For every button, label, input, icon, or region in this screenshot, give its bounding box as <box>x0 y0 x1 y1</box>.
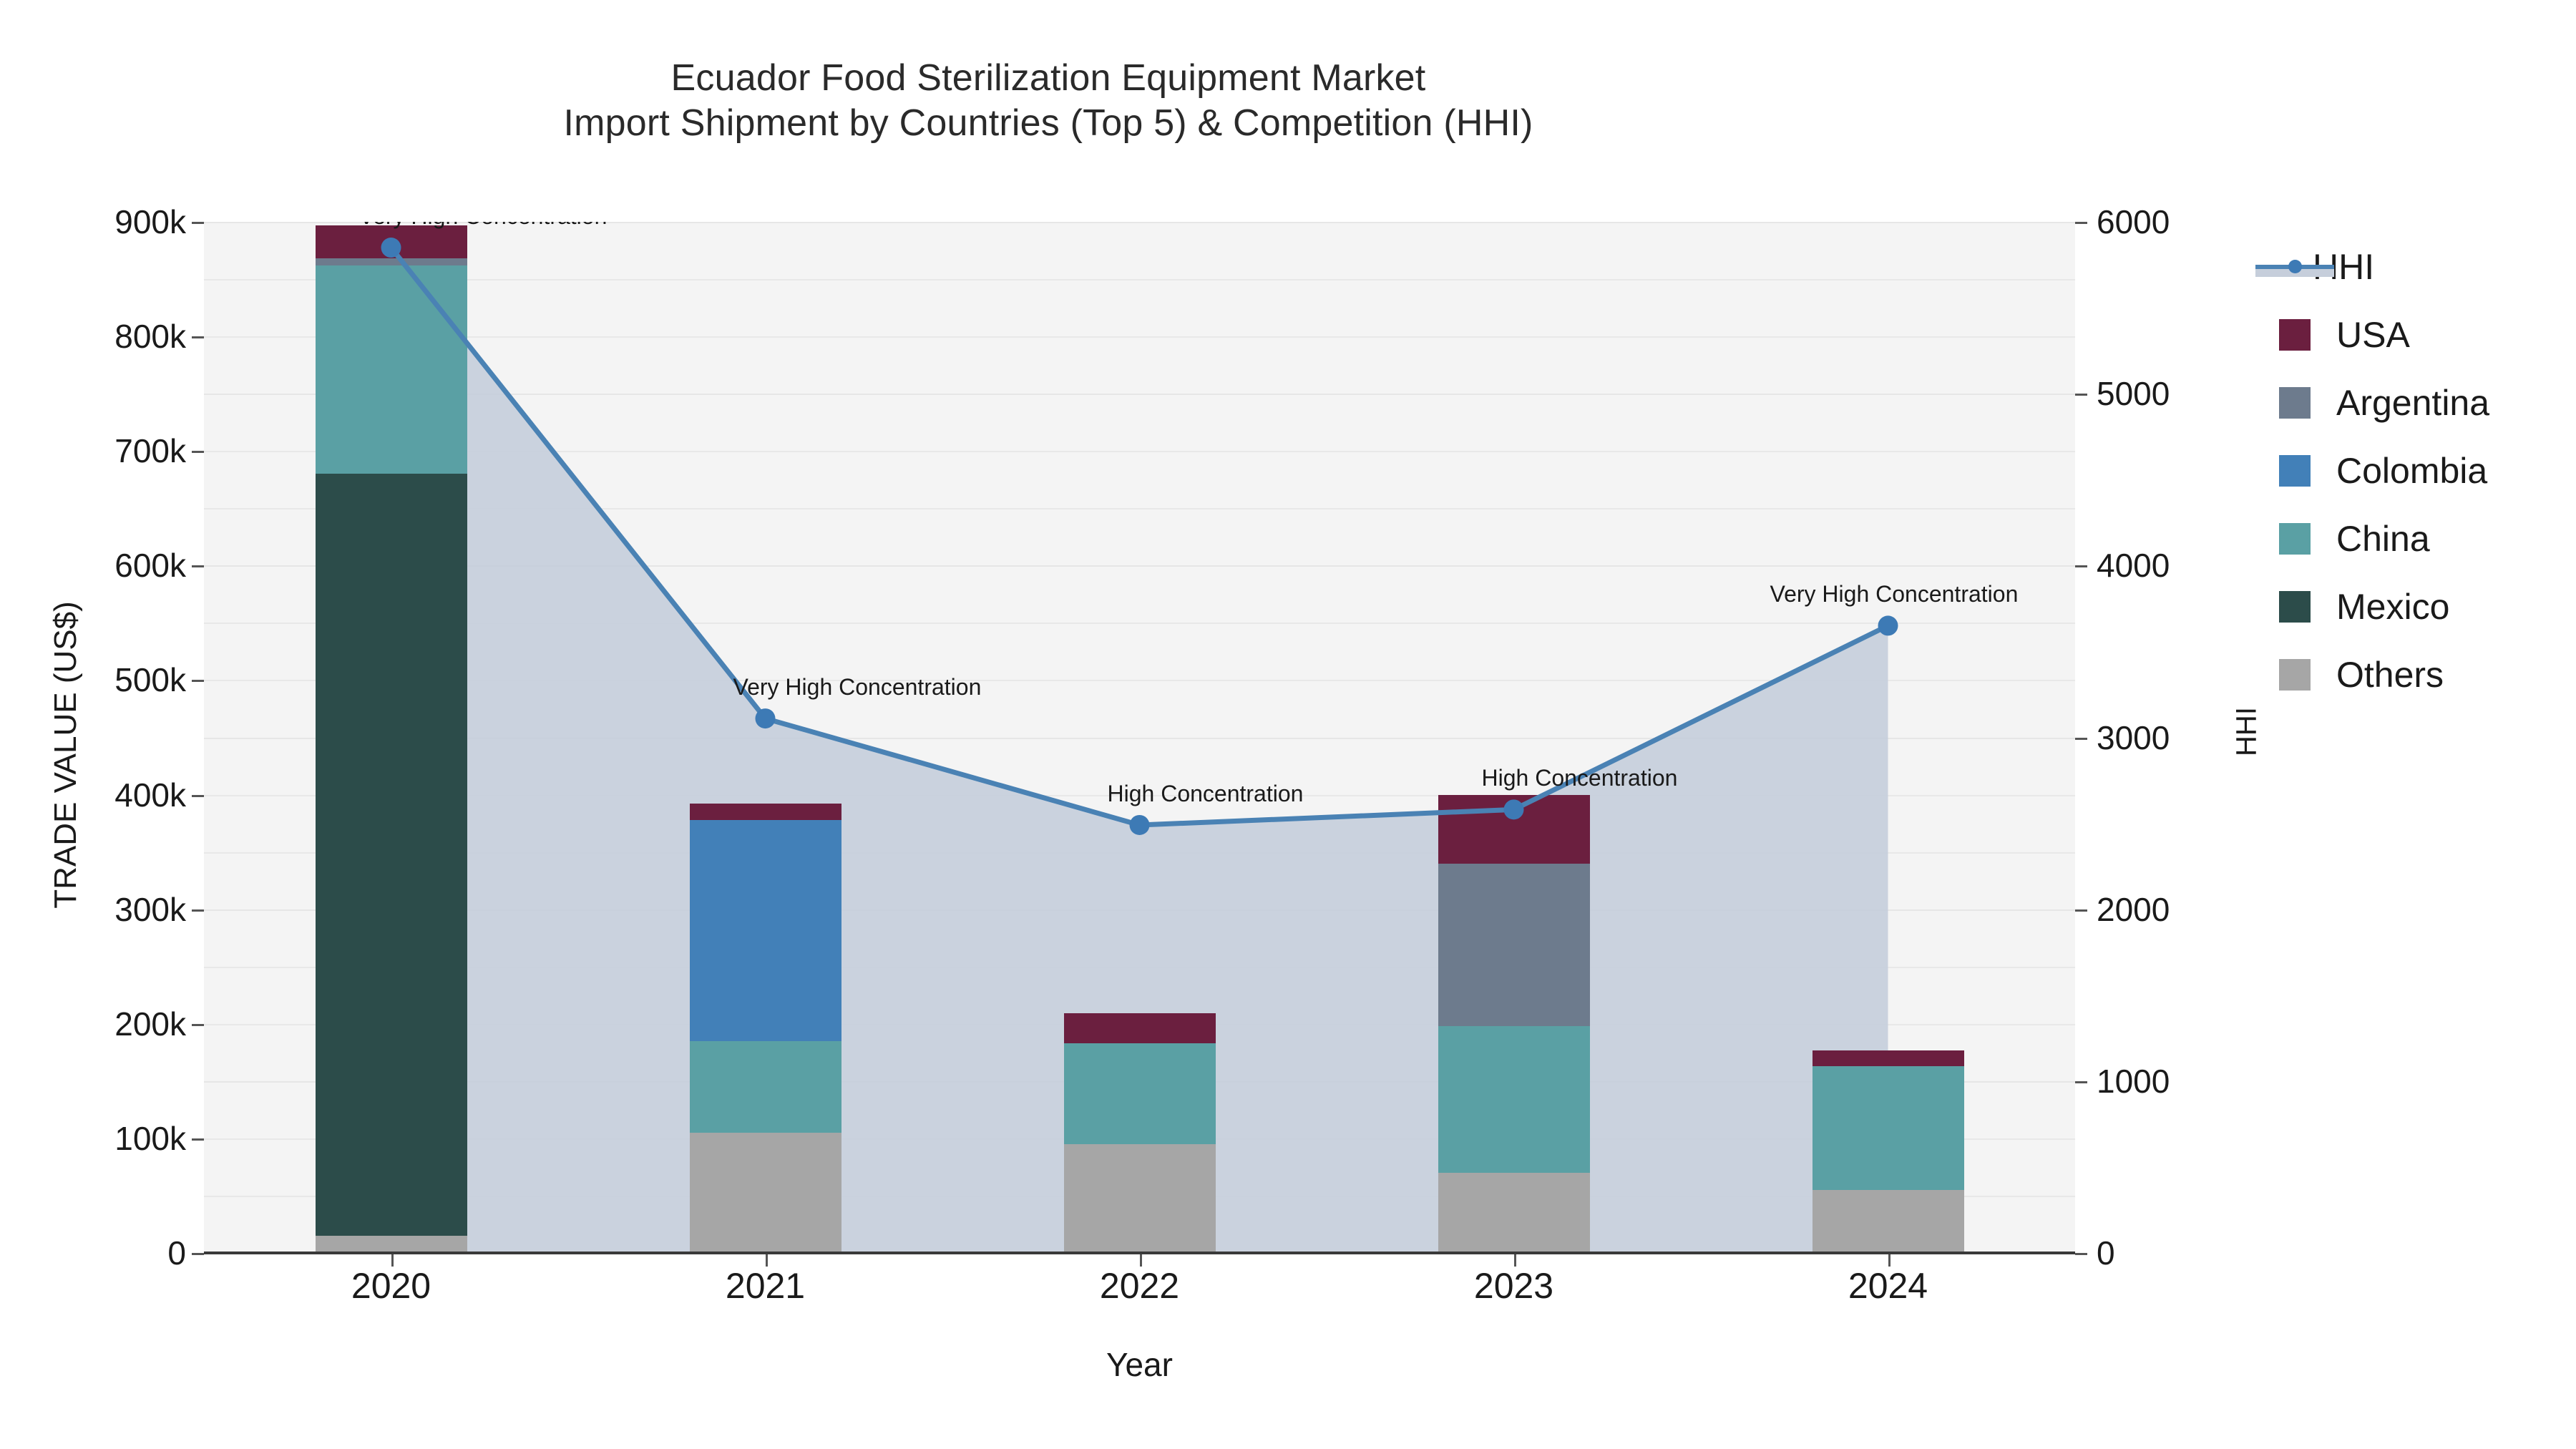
x-axis-tickmark <box>1140 1254 1142 1267</box>
legend-label: China <box>2336 518 2430 560</box>
chart-figure: Ecuador Food Sterilization Equipment Mar… <box>0 0 2576 1449</box>
plot-area: Very High ConcentrationVery High Concent… <box>204 222 2075 1253</box>
bar-segment-usa[interactable] <box>690 804 841 819</box>
bar-segment-others[interactable] <box>316 1236 467 1253</box>
hhi-annotation-label: High Concentration <box>1482 765 1678 791</box>
bar-segment-others[interactable] <box>1064 1144 1216 1253</box>
legend-item-others[interactable]: Others <box>2279 640 2565 708</box>
legend-item-colombia[interactable]: Colombia <box>2279 436 2565 504</box>
bar-segment-usa[interactable] <box>1813 1050 1964 1066</box>
y-axis-right-tickmark <box>2075 1253 2087 1255</box>
bar-segment-others[interactable] <box>1438 1173 1590 1253</box>
x-axis-tickmark <box>1888 1254 1890 1267</box>
x-axis-tick-label-2024: 2024 <box>1848 1265 1928 1307</box>
y-axis-right-tick-label: 4000 <box>2097 546 2240 585</box>
hhi-annotation-label: High Concentration <box>1108 781 1304 807</box>
y-axis-left-tick-label: 200k <box>50 1005 186 1043</box>
y-axis-left-tick-label: 700k <box>50 431 186 470</box>
y-axis-left-label: TRADE VALUE (US$) <box>48 504 84 1005</box>
y-axis-right-tick-label: 0 <box>2097 1234 2240 1272</box>
legend-label: Argentina <box>2336 382 2489 424</box>
y-axis-left-tickmark <box>192 222 204 224</box>
y-axis-left-tickmark <box>192 909 204 912</box>
legend-swatch-icon <box>2279 523 2311 555</box>
bar-group[interactable] <box>316 222 467 1253</box>
legend-item-china[interactable]: China <box>2279 504 2565 572</box>
chart-title: Ecuador Food Sterilization Equipment Mar… <box>0 56 2097 147</box>
x-axis-label: Year <box>204 1345 2075 1384</box>
bar-segment-mexico[interactable] <box>316 474 467 1236</box>
bar-segment-argentina[interactable] <box>1438 864 1590 1026</box>
y-axis-left-tickmark <box>192 1138 204 1141</box>
legend-swatch-icon <box>2279 455 2311 487</box>
y-axis-right-tick-label: 5000 <box>2097 374 2240 413</box>
x-axis-tickmark <box>391 1254 394 1267</box>
bar-segment-china[interactable] <box>316 265 467 474</box>
y-axis-right-tick-label: 2000 <box>2097 890 2240 929</box>
hhi-annotation-label: Very High Concentration <box>733 674 982 701</box>
chart-title-line-2: Import Shipment by Countries (Top 5) & C… <box>0 101 2097 146</box>
legend-item-usa[interactable]: USA <box>2279 301 2565 369</box>
bar-segment-argentina[interactable] <box>316 258 467 265</box>
y-axis-right-tickmark <box>2075 738 2087 740</box>
legend-swatch-icon <box>2279 387 2311 419</box>
bar-segment-usa[interactable] <box>316 225 467 258</box>
y-axis-left-tickmark <box>192 680 204 682</box>
bar-segment-china[interactable] <box>1438 1026 1590 1173</box>
y-axis-right-label: HHI <box>2231 660 2263 804</box>
y-axis-left-tickmark <box>192 795 204 797</box>
y-axis-left-tick-label: 100k <box>50 1119 186 1158</box>
bar-segment-others[interactable] <box>1813 1190 1964 1253</box>
x-axis-tick-label-2022: 2022 <box>1100 1265 1179 1307</box>
hhi-annotation-label: Very High Concentration <box>1770 581 2019 608</box>
y-axis-right-tickmark <box>2075 565 2087 567</box>
bar-segment-china[interactable] <box>690 1041 841 1133</box>
y-axis-left-tickmark <box>192 451 204 453</box>
y-axis-left-tick-label: 900k <box>50 203 186 241</box>
y-axis-right-tickmark <box>2075 222 2087 224</box>
legend-swatch-icon <box>2279 659 2311 691</box>
x-axis-tickmark <box>1514 1254 1516 1267</box>
bar-segment-usa[interactable] <box>1064 1013 1216 1043</box>
bar-segment-colombia[interactable] <box>690 820 841 1041</box>
bar-segment-others[interactable] <box>690 1133 841 1253</box>
legend-label: USA <box>2336 314 2410 356</box>
bar-group[interactable] <box>1438 222 1590 1253</box>
y-axis-right-tick-label: 6000 <box>2097 203 2240 241</box>
y-axis-left-tick-label: 0 <box>50 1234 186 1272</box>
y-axis-right-tick-label: 1000 <box>2097 1062 2240 1101</box>
bar-group[interactable] <box>690 222 841 1253</box>
legend-item-argentina[interactable]: Argentina <box>2279 369 2565 436</box>
chart-legend: HHIUSAArgentinaColombiaChinaMexicoOthers <box>2279 233 2565 708</box>
bar-group[interactable] <box>1813 222 1964 1253</box>
x-axis-tick-label-2021: 2021 <box>726 1265 805 1307</box>
legend-item-mexico[interactable]: Mexico <box>2279 572 2565 640</box>
legend-label: Colombia <box>2336 450 2487 492</box>
legend-line-icon <box>2255 251 2334 283</box>
legend-label: Mexico <box>2336 586 2449 628</box>
bar-segment-china[interactable] <box>1813 1066 1964 1190</box>
bar-segment-usa[interactable] <box>1438 795 1590 864</box>
x-axis-tick-label-2020: 2020 <box>351 1265 431 1307</box>
y-axis-right-tickmark <box>2075 909 2087 912</box>
y-axis-left-tickmark <box>192 336 204 338</box>
bar-group[interactable] <box>1064 222 1216 1253</box>
legend-swatch-icon <box>2279 319 2311 351</box>
y-axis-right-tick-label: 3000 <box>2097 718 2240 757</box>
y-axis-left-tick-label: 800k <box>50 317 186 356</box>
y-axis-left-tickmark <box>192 565 204 567</box>
y-axis-left-tickmark <box>192 1253 204 1255</box>
legend-swatch-icon <box>2279 591 2311 623</box>
y-axis-right-tickmark <box>2075 394 2087 396</box>
y-axis-right-tickmark <box>2075 1081 2087 1083</box>
x-axis-tick-label-2023: 2023 <box>1474 1265 1553 1307</box>
y-axis-left-tickmark <box>192 1024 204 1026</box>
legend-line-marker <box>2288 260 2302 273</box>
x-axis-tickmark <box>766 1254 768 1267</box>
bar-segment-china[interactable] <box>1064 1043 1216 1144</box>
hhi-annotation-label: Very High Concentration <box>359 222 608 230</box>
legend-label: Others <box>2336 654 2444 696</box>
chart-title-line-1: Ecuador Food Sterilization Equipment Mar… <box>0 56 2097 101</box>
legend-item-hhi[interactable]: HHI <box>2279 233 2565 301</box>
